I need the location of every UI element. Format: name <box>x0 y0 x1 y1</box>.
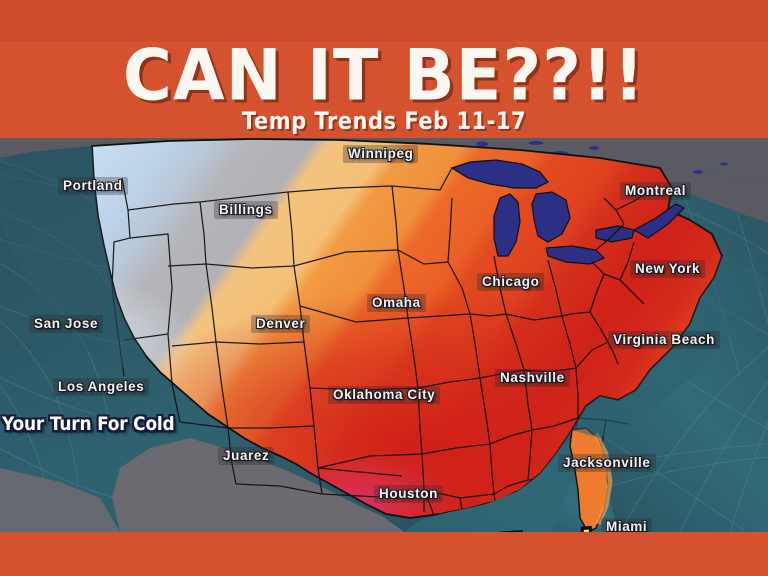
map-canvas <box>0 138 768 532</box>
headline-text: CAN IT BE??!! <box>0 40 768 112</box>
weather-graphic: CAN IT BE??!! Temp Trends Feb 11-17 <box>0 0 768 576</box>
cold-annotation: Your Turn For Cold <box>2 414 175 436</box>
footer-banner <box>0 532 768 576</box>
temperature-map: Your Turn For Cold No-Snow-Zone! <box>0 138 768 532</box>
subtitle-text: Temp Trends Feb 11-17 <box>0 107 768 135</box>
header-banner: CAN IT BE??!! Temp Trends Feb 11-17 <box>0 0 768 138</box>
